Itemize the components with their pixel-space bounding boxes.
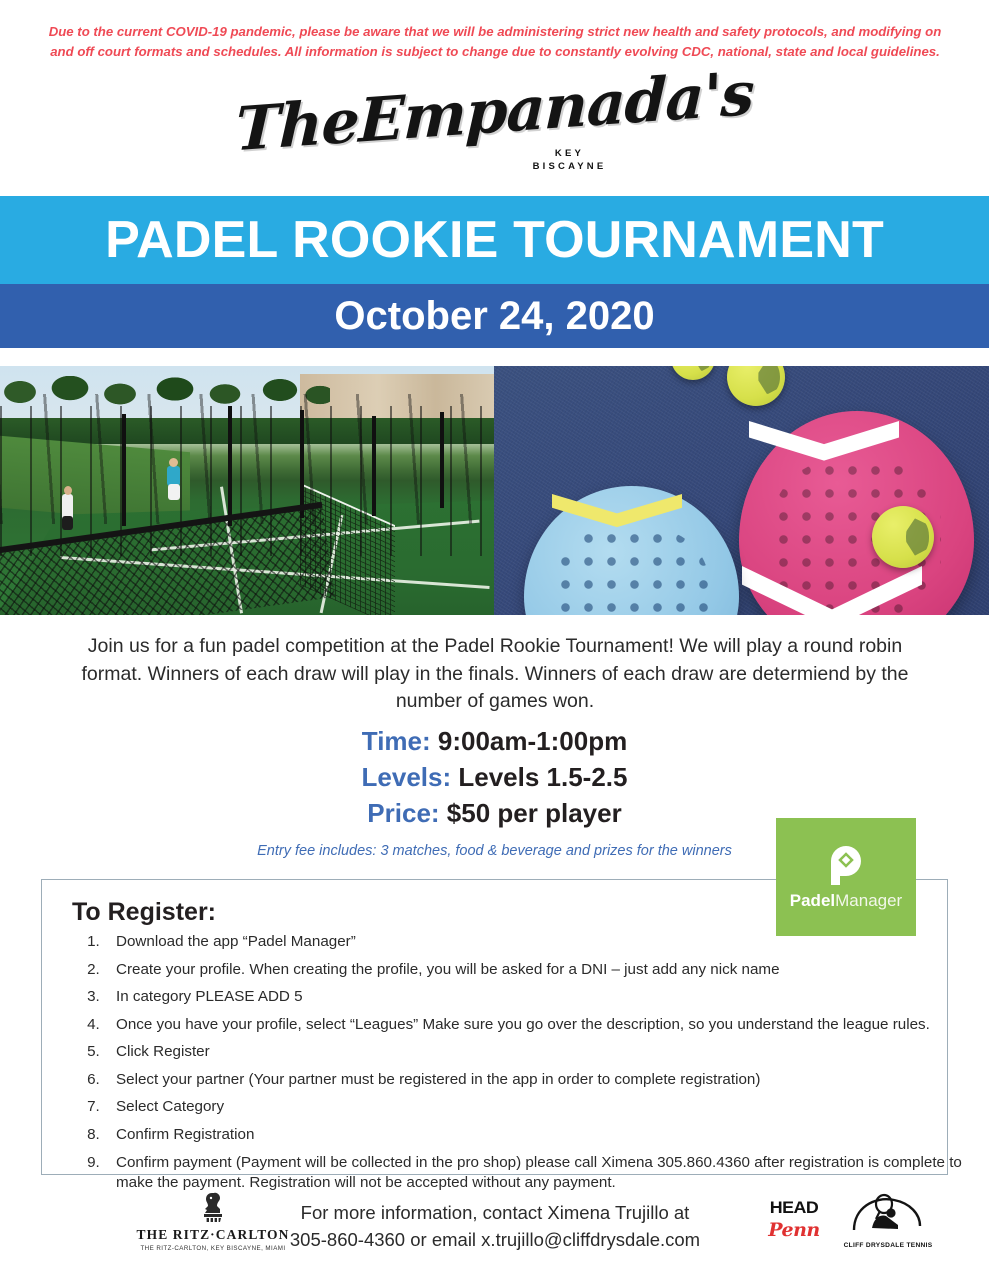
register-heading: To Register:: [72, 898, 216, 927]
tournament-title: PADEL ROOKIE TOURNAMENT: [0, 196, 989, 284]
covid-notice-line-2: and off court formats and schedules. All…: [45, 42, 945, 62]
padel-rackets-photo: [494, 366, 989, 615]
cliff-drysdale-tennis-logo: CLIFF DRYSDALE TENNIS: [838, 1192, 938, 1249]
register-step: Select your partner (Your partner must b…: [104, 1070, 979, 1090]
padel-manager-bold-part: Padel: [790, 891, 835, 910]
detail-time: Time: 9:00am-1:00pm: [0, 724, 989, 760]
padel-manager-wordmark: PadelManager: [790, 891, 902, 911]
photo-strip: [0, 366, 989, 615]
cliff-drysdale-wordmark: CLIFF DRYSDALE TENNIS: [838, 1242, 938, 1249]
register-steps-list: Download the app “Padel Manager” Create …: [72, 932, 979, 1200]
detail-price-value: $50 per player: [447, 798, 622, 828]
padel-manager-logo: PadelManager: [776, 818, 916, 936]
detail-time-value: 9:00am-1:00pm: [438, 726, 627, 756]
tournament-date: October 24, 2020: [0, 284, 989, 348]
padel-courts-photo: [0, 366, 494, 615]
register-step: Confirm Registration: [104, 1125, 979, 1145]
penn-wordmark: Penn: [752, 1219, 836, 1241]
detail-levels: Levels: Levels 1.5-2.5: [0, 760, 989, 796]
empanadas-location: KEY BISCAYNE: [533, 148, 607, 174]
empanadas-name: Empanada's: [358, 59, 755, 157]
tournament-date-band: October 24, 2020: [0, 284, 989, 348]
register-step: Select Category: [104, 1097, 979, 1117]
tournament-title-band: PADEL ROOKIE TOURNAMENT: [0, 196, 989, 284]
register-step: Click Register: [104, 1042, 979, 1062]
footer: THE RITZ·CARLTON THE RITZ-CARLTON, KEY B…: [0, 1188, 989, 1280]
empanadas-location-line-1: KEY: [533, 148, 607, 161]
empanadas-logo: TheEmpanada's KEY BISCAYNE: [0, 78, 989, 190]
register-step: In category PLEASE ADD 5: [104, 987, 979, 1007]
empanadas-wordmark: TheEmpanada's: [235, 64, 755, 160]
intro-paragraph: Join us for a fun padel competition at t…: [75, 633, 915, 716]
register-step: Once you have your profile, select “Leag…: [104, 1015, 979, 1035]
contact-line-1: For more information, contact Ximena Tru…: [255, 1200, 735, 1227]
empanadas-the: The: [234, 86, 360, 165]
register-step: Create your profile. When creating the p…: [104, 960, 979, 980]
empanadas-location-line-2: BISCAYNE: [533, 161, 607, 174]
head-penn-logo: HEAD Penn: [752, 1198, 836, 1241]
detail-price-label: Price:: [367, 798, 439, 828]
padel-manager-light-part: Manager: [835, 891, 902, 910]
covid-notice: Due to the current COVID-19 pandemic, pl…: [45, 22, 945, 63]
head-wordmark: HEAD: [750, 1198, 838, 1218]
register-step: Confirm payment (Payment will be collect…: [104, 1153, 979, 1193]
contact-line-2: 305-860-4360 or email x.trujillo@cliffdr…: [255, 1227, 735, 1254]
covid-notice-line-1: Due to the current COVID-19 pandemic, pl…: [45, 22, 945, 42]
detail-time-label: Time:: [362, 726, 431, 756]
event-details: Time: 9:00am-1:00pm Levels: Levels 1.5-2…: [0, 724, 989, 832]
padel-manager-mark-icon: [826, 843, 866, 885]
detail-levels-label: Levels:: [362, 762, 452, 792]
contact-info: For more information, contact Ximena Tru…: [255, 1200, 735, 1254]
detail-levels-value: Levels 1.5-2.5: [458, 762, 627, 792]
